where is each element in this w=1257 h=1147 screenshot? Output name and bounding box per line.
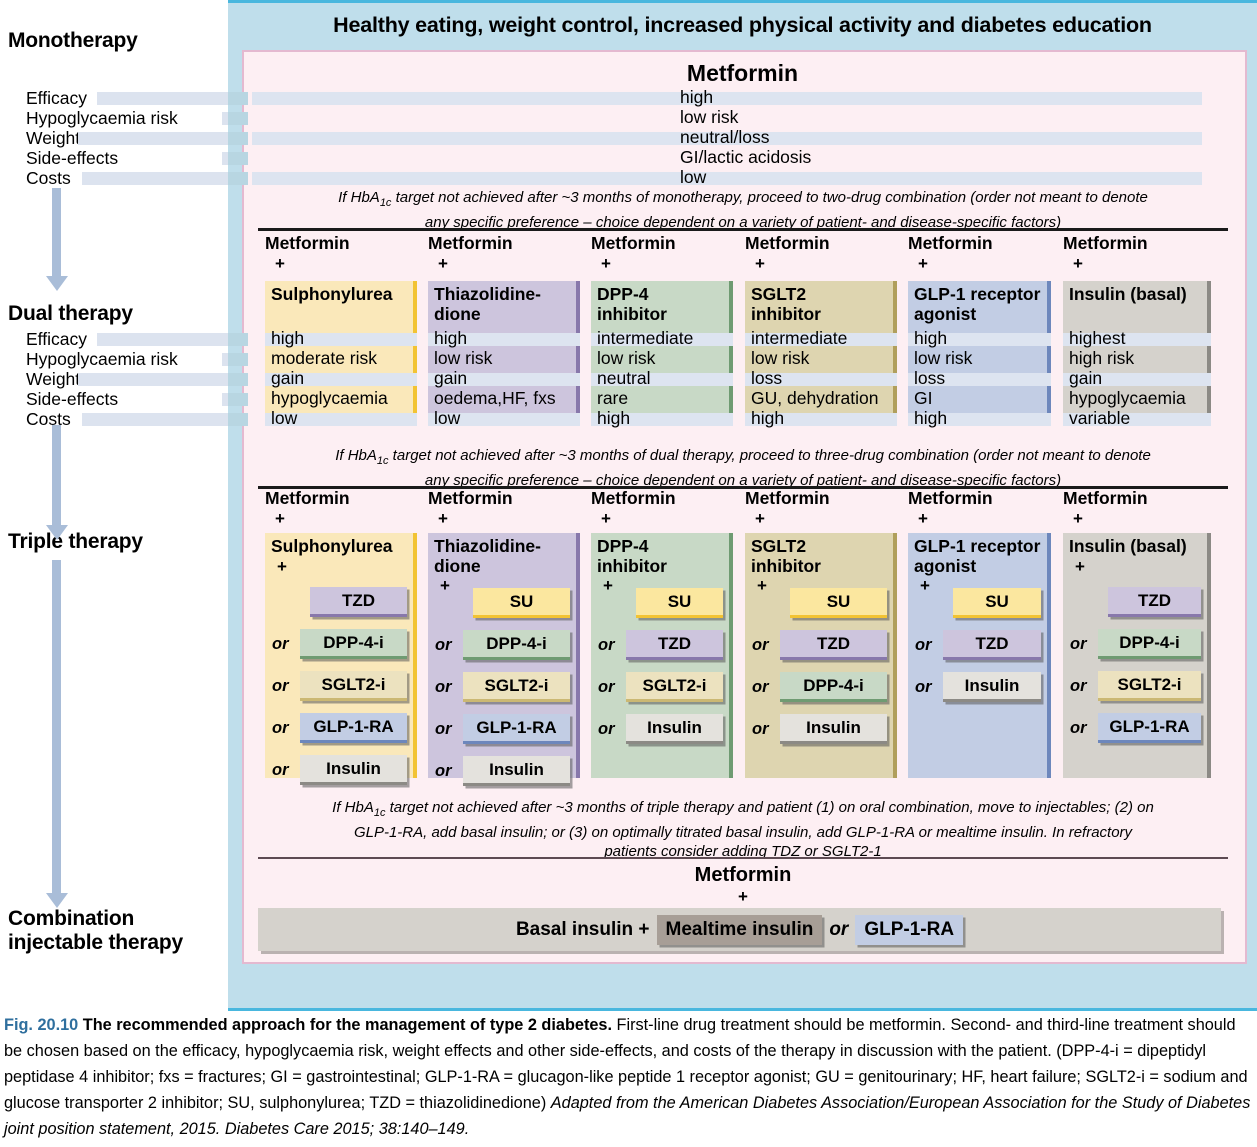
triple-option-glp-1-ra[interactable]: GLP-1-RA [300, 713, 407, 743]
note-line-1: If HbA1c target not achieved after ~3 mo… [335, 447, 1151, 464]
dual-cell-value: variable [1069, 409, 1130, 428]
column-base-drug: Metformin [591, 233, 733, 253]
dual-cell-value: neutral [597, 369, 651, 388]
dual-cell-value: high [271, 329, 304, 348]
note-after-monotherapy: If HbA1c target not achieved after ~3 mo… [258, 188, 1228, 232]
metric-label-mono-1: Hypoglycaemia risk [26, 108, 178, 128]
column-plus-sign: + [918, 509, 928, 529]
option-or-label: or [598, 678, 615, 697]
leader-stripe [82, 413, 228, 426]
dual-cell-value: moderate risk [271, 349, 377, 368]
flow-arrow-shaft-mono-dual [52, 188, 61, 276]
column-plus-sign: + [275, 509, 285, 529]
triple-option-su[interactable]: SU [473, 588, 570, 618]
mono-value-side-effects: GI/lactic acidosis [680, 148, 811, 167]
dual-cell-value: low risk [434, 349, 492, 368]
column-plus-sign: + [601, 509, 611, 529]
mono-value-weight: neutral/loss [680, 128, 770, 147]
metric-label-dual-0: Efficacy [26, 329, 87, 349]
dual-cell-value: loss [751, 369, 782, 388]
mono-drug-title: Metformin [228, 60, 1257, 87]
dual-cell-value: gain [434, 369, 467, 388]
stage-label-combination-1: Combination [8, 908, 134, 930]
triple-option-su[interactable]: SU [953, 588, 1041, 618]
dual-cell-value: high [597, 409, 630, 428]
triple-plus-sign: + [1075, 557, 1085, 577]
figure-caption: Fig. 20.10 The recommended approach for … [4, 1012, 1253, 1142]
triple-option-tzd[interactable]: TZD [626, 630, 723, 660]
section-rule-dual [258, 228, 1228, 231]
triple-drug-name: Thiazolidine-dione [434, 537, 578, 576]
dual-drug-name: DPP-4inhibitor [597, 285, 731, 324]
gutter-tab [228, 92, 248, 105]
gutter-tab [228, 413, 248, 426]
column-base-drug: Metformin [745, 233, 897, 253]
column-base-drug: Metformin [591, 488, 733, 508]
dual-drug-name: Insulin (basal) [1069, 285, 1209, 305]
stage-label-combination-2: injectable therapy [8, 932, 183, 954]
combo-plus: + [258, 887, 1228, 907]
gutter-tab [228, 172, 248, 185]
triple-option-dpp-4-i[interactable]: DPP-4-i [780, 672, 887, 702]
note-after-dual: If HbA1c target not achieved after ~3 mo… [258, 446, 1228, 490]
triple-option-tzd[interactable]: TZD [1108, 587, 1201, 617]
column-plus-sign: + [755, 509, 765, 529]
column-plus-sign: + [438, 254, 448, 274]
mono-value-costs: low [680, 168, 706, 187]
option-or-label: or [752, 720, 769, 739]
metric-label-mono-0: Efficacy [26, 88, 87, 108]
column-plus-sign: + [1073, 509, 1083, 529]
triple-option-dpp-4-i[interactable]: DPP-4-i [1098, 629, 1201, 659]
gutter-tab [228, 393, 248, 406]
value-stripe [252, 92, 1202, 105]
metric-label-dual-4: Costs [26, 409, 71, 429]
option-or-label: or [272, 677, 289, 696]
column-base-drug: Metformin [265, 233, 417, 253]
leader-stripe [82, 172, 228, 185]
stage-label-monotherapy: Monotherapy [8, 30, 138, 52]
column-plus-sign: + [1073, 254, 1083, 274]
banner-healthy-eating: Healthy eating, weight control, increase… [240, 0, 1245, 50]
triple-option-insulin[interactable]: Insulin [943, 672, 1041, 702]
metric-label-mono-4: Costs [26, 168, 71, 188]
column-base-drug: Metformin [908, 233, 1051, 253]
option-or-label: or [1070, 719, 1087, 738]
dual-cell-value: high risk [1069, 349, 1134, 368]
section-rule-combination [258, 857, 1228, 859]
dual-cell-value: highest [1069, 329, 1125, 348]
triple-option-glp-1-ra[interactable]: GLP-1-RA [1098, 713, 1201, 743]
dual-cell-value: oedema,HF, fxs [434, 389, 556, 408]
flow-arrow-head-mono-dual [46, 276, 68, 291]
combination-bar: Basal insulin + Mealtime insulin or GLP-… [258, 908, 1221, 951]
option-or-label: or [752, 678, 769, 697]
option-or-label: or [752, 636, 769, 655]
option-or-label: or [598, 636, 615, 655]
note-after-triple: If HbA1c target not achieved after ~3 mo… [258, 798, 1228, 861]
triple-option-sglt2-i[interactable]: SGLT2-i [300, 671, 407, 701]
leader-stripe [97, 333, 228, 346]
triple-drug-name: Insulin (basal) [1069, 537, 1209, 557]
triple-option-su[interactable]: SU [790, 588, 887, 618]
gutter-tab [228, 152, 248, 165]
triple-option-insulin[interactable]: Insulin [463, 756, 570, 786]
triple-option-dpp-4-i[interactable]: DPP-4-i [300, 629, 407, 659]
option-or-label: or [435, 720, 452, 739]
triple-drug-name: DPP-4inhibitor [597, 537, 731, 576]
mono-value-efficacy: high [680, 88, 713, 107]
triple-plus-sign: + [277, 557, 287, 577]
dual-cell-value: high [914, 409, 947, 428]
column-plus-sign: + [918, 254, 928, 274]
column-plus-sign: + [438, 509, 448, 529]
column-plus-sign: + [601, 254, 611, 274]
option-or-label: or [435, 636, 452, 655]
dual-cell-value: hypoglycaemia [271, 389, 388, 408]
flow-arrow-head-dual-triple [46, 525, 68, 540]
banner-text: Healthy eating, weight control, increase… [333, 13, 1152, 38]
combo-basal-label: Basal insulin + [516, 919, 650, 941]
column-base-drug: Metformin [745, 488, 897, 508]
triple-option-insulin[interactable]: Insulin [626, 714, 723, 744]
caption-figure-number: Fig. 20.10 [4, 1016, 78, 1034]
option-or-label: or [272, 635, 289, 654]
column-base-drug: Metformin [265, 488, 417, 508]
column-plus-sign: + [275, 254, 285, 274]
option-or-label: or [1070, 635, 1087, 654]
triple-option-insulin[interactable]: Insulin [300, 755, 407, 785]
triple-drug-name: Sulphonylurea [271, 537, 415, 557]
triple-option-su[interactable]: SU [636, 588, 723, 618]
dual-cell-value: gain [1069, 369, 1102, 388]
triple-option-sglt2-i[interactable]: SGLT2-i [1098, 671, 1201, 701]
triple-plus-sign: + [757, 576, 767, 596]
note-line-2: GLP-1-RA, add basal insulin; or (3) on o… [354, 824, 1132, 841]
gutter-tab [228, 353, 248, 366]
combo-chip-mealtime-insulin[interactable]: Mealtime insulin [657, 915, 823, 945]
dual-cell-value: GU, dehydration [751, 389, 878, 408]
dual-cell-value: GI [914, 389, 932, 408]
column-base-drug: Metformin [428, 488, 580, 508]
triple-option-sglt2-i[interactable]: SGLT2-i [463, 672, 570, 702]
dual-cell-value: gain [271, 369, 304, 388]
metric-label-dual-2: Weight [26, 369, 80, 389]
triple-option-tzd[interactable]: TZD [780, 630, 887, 660]
dual-cell-value: low [271, 409, 297, 428]
triple-drug-name: SGLT2inhibitor [751, 537, 895, 576]
dual-cell-value: intermediate [597, 329, 693, 348]
mono-value-hypo-risk: low risk [680, 108, 738, 127]
option-or-label: or [915, 678, 932, 697]
dual-cell-value: low risk [751, 349, 809, 368]
metric-label-dual-1: Hypoglycaemia risk [26, 349, 178, 369]
triple-option-tzd[interactable]: TZD [943, 630, 1041, 660]
option-or-label: or [435, 762, 452, 781]
metric-label-mono-2: Weight [26, 128, 80, 148]
note-line-1: If HbA1c target not achieved after ~3 mo… [332, 799, 1154, 816]
column-base-drug: Metformin [908, 488, 1051, 508]
dual-cell-value: intermediate [751, 329, 847, 348]
stage-label-triple: Triple therapy [8, 531, 143, 553]
value-stripe [252, 172, 1202, 185]
flow-arrow-head-triple-combo [46, 893, 68, 908]
triple-plus-sign: + [440, 576, 450, 596]
dual-cell-value: low [434, 409, 460, 428]
combo-drug-title: Metformin [258, 864, 1228, 887]
option-or-label: or [1070, 677, 1087, 696]
dual-cell-value: low risk [914, 349, 972, 368]
triple-plus-sign: + [603, 576, 613, 596]
combo-chip-glp1-ra[interactable]: GLP-1-RA [855, 915, 963, 945]
stage-rail: Monotherapy Dual therapy Triple therapy … [0, 0, 232, 1005]
option-or-label: or [272, 719, 289, 738]
triple-option-tzd[interactable]: TZD [310, 587, 407, 617]
dual-cell-value: rare [597, 389, 628, 408]
dual-drug-name: Sulphonylurea [271, 285, 415, 305]
leader-stripe [97, 92, 228, 105]
column-base-drug: Metformin [1063, 233, 1211, 253]
triple-option-insulin[interactable]: Insulin [780, 714, 887, 744]
dual-cell-value: loss [914, 369, 945, 388]
dual-cell-value: low risk [597, 349, 655, 368]
stage-label-dual: Dual therapy [8, 303, 133, 325]
dual-cell-value: high [914, 329, 947, 348]
column-plus-sign: + [755, 254, 765, 274]
triple-drug-name: GLP-1 receptoragonist [914, 537, 1049, 576]
dual-cell-value: hypoglycaemia [1069, 389, 1186, 408]
dual-cell-value: high [751, 409, 784, 428]
leader-stripe [78, 132, 228, 145]
column-base-drug: Metformin [428, 233, 580, 253]
flow-arrow-shaft-triple-combo [52, 560, 61, 893]
leader-stripe [78, 373, 228, 386]
triple-plus-sign: + [920, 576, 930, 596]
triple-option-sglt2-i[interactable]: SGLT2-i [626, 672, 723, 702]
caption-title: The recommended approach for the managem… [83, 1016, 612, 1034]
option-or-label: or [915, 636, 932, 655]
triple-option-dpp-4-i[interactable]: DPP-4-i [463, 630, 570, 660]
gutter-tab [228, 333, 248, 346]
gutter-tab [228, 373, 248, 386]
flow-arrow-shaft-dual-triple [52, 425, 61, 525]
option-or-label: or [598, 720, 615, 739]
combo-or-label: or [829, 919, 848, 941]
gutter-tab [228, 112, 248, 125]
figure-diagram: Healthy eating, weight control, increase… [0, 0, 1257, 1005]
gutter-tab [228, 132, 248, 145]
metric-label-dual-3: Side-effects [26, 389, 118, 409]
note-line-1: If HbA1c target not achieved after ~3 mo… [338, 189, 1148, 206]
option-or-label: or [272, 761, 289, 780]
dual-cell-value: high [434, 329, 467, 348]
column-base-drug: Metformin [1063, 488, 1211, 508]
metric-label-mono-3: Side-effects [26, 148, 118, 168]
triple-option-glp-1-ra[interactable]: GLP-1-RA [463, 714, 570, 744]
dual-drug-name: GLP-1 receptoragonist [914, 285, 1049, 324]
option-or-label: or [435, 678, 452, 697]
dual-drug-name: SGLT2inhibitor [751, 285, 895, 324]
dual-drug-name: Thiazolidine-dione [434, 285, 578, 324]
